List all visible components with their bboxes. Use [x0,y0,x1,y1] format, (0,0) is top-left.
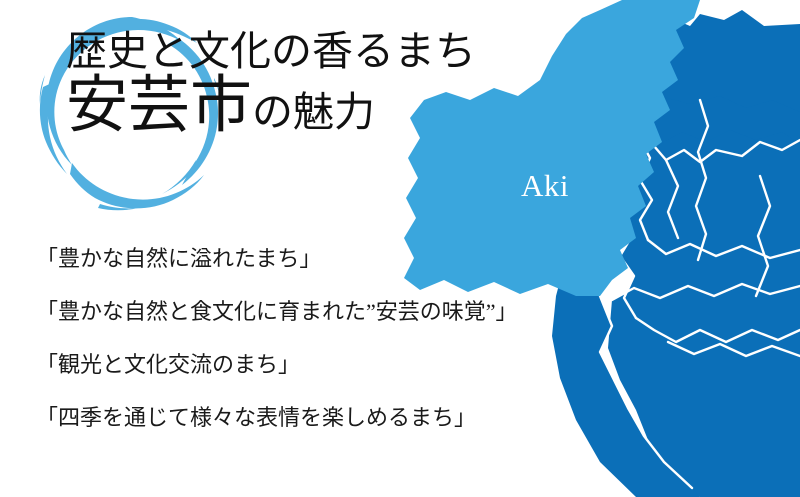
title-main: 安芸市 [66,72,252,140]
logo-block: 歴史と文化の香るまち 安芸市の魅力 [28,8,468,218]
title-line-1: 歴史と文化の香るまち [66,30,466,73]
title-stack: 歴史と文化の香るまち 安芸市の魅力 [66,30,466,137]
title-suffix: の魅力 [252,89,375,135]
tagline-item: 「豊かな自然と食文化に育まれた”安芸の味覚”」 [36,301,576,323]
map-label-aki: Aki [521,168,569,203]
tagline-item: 「四季を通じて様々な表情を楽しめるまち」 [36,407,576,429]
title-line-2: 安芸市の魅力 [66,75,466,137]
tagline-item: 「観光と文化交流のまち」 [36,354,576,376]
tagline-item: 「豊かな自然に溢れたまち」 [36,248,576,270]
tagline-list: 「豊かな自然に溢れたまち」 「豊かな自然と食文化に育まれた”安芸の味覚”」 「観… [36,248,576,429]
poster-canvas: Aki 歴史と文化の香るまち 安芸市の魅力 [0,0,800,497]
